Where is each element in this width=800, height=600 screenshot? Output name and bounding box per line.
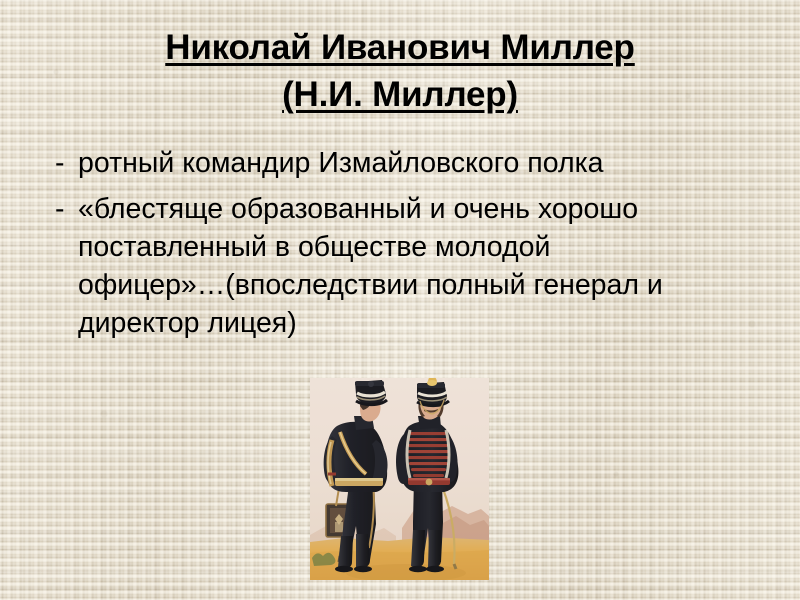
bullet-marker-dash-icon: -: [55, 190, 65, 228]
slide-body: - ротный командир Измайловского полка - …: [44, 144, 704, 342]
title-line-2: (Н.И. Миллер): [0, 71, 800, 118]
title-line-2-text: (Н.И. Миллер): [282, 75, 518, 114]
bullet-item: - «блестяще образованный и очень хорошо …: [44, 190, 704, 342]
bullet-text: «блестяще образованный и очень хорошо по…: [78, 190, 704, 342]
title-line-1: Николай Иванович Миллер: [0, 24, 800, 71]
slide-canvas: Николай Иванович Миллер (Н.И. Миллер) - …: [0, 0, 800, 600]
officers-illustration-image: [310, 378, 489, 580]
bullet-item: - ротный командир Измайловского полка: [44, 144, 704, 182]
bullet-text: ротный командир Измайловского полка: [78, 144, 704, 182]
slide-title: Николай Иванович Миллер (Н.И. Миллер): [0, 24, 800, 118]
title-line-1-text: Николай Иванович Миллер: [165, 28, 635, 67]
bullet-marker-dash-icon: -: [55, 144, 65, 182]
slide-illustration: [310, 378, 489, 580]
